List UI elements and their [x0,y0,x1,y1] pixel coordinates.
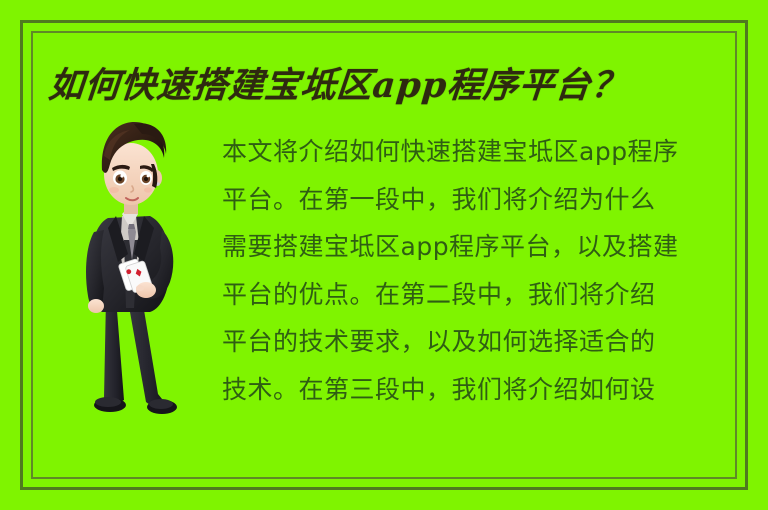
article-line: 本文将介绍如何快速搭建宝坻区app程序 [222,128,750,176]
article-line: 平台的技术要求，以及如何选择适合的 [222,318,750,366]
poster-canvas: 如何快速搭建宝坻区app程序平台？ [0,0,768,510]
businessman-character-illustration [72,112,200,420]
article-line: 平台。在第一段中，我们将介绍为什么 [222,176,750,224]
article-line: 需要搭建宝坻区app程序平台，以及搭建 [222,223,750,271]
page-title: 如何快速搭建宝坻区app程序平台？ [46,58,741,116]
article-line: 平台的优点。在第二段中，我们将介绍 [222,271,750,319]
article-line: 技术。在第三段中，我们将介绍如何设 [222,366,750,414]
article-body: 本文将介绍如何快速搭建宝坻区app程序 平台。在第一段中，我们将介绍为什么 需要… [222,128,750,413]
